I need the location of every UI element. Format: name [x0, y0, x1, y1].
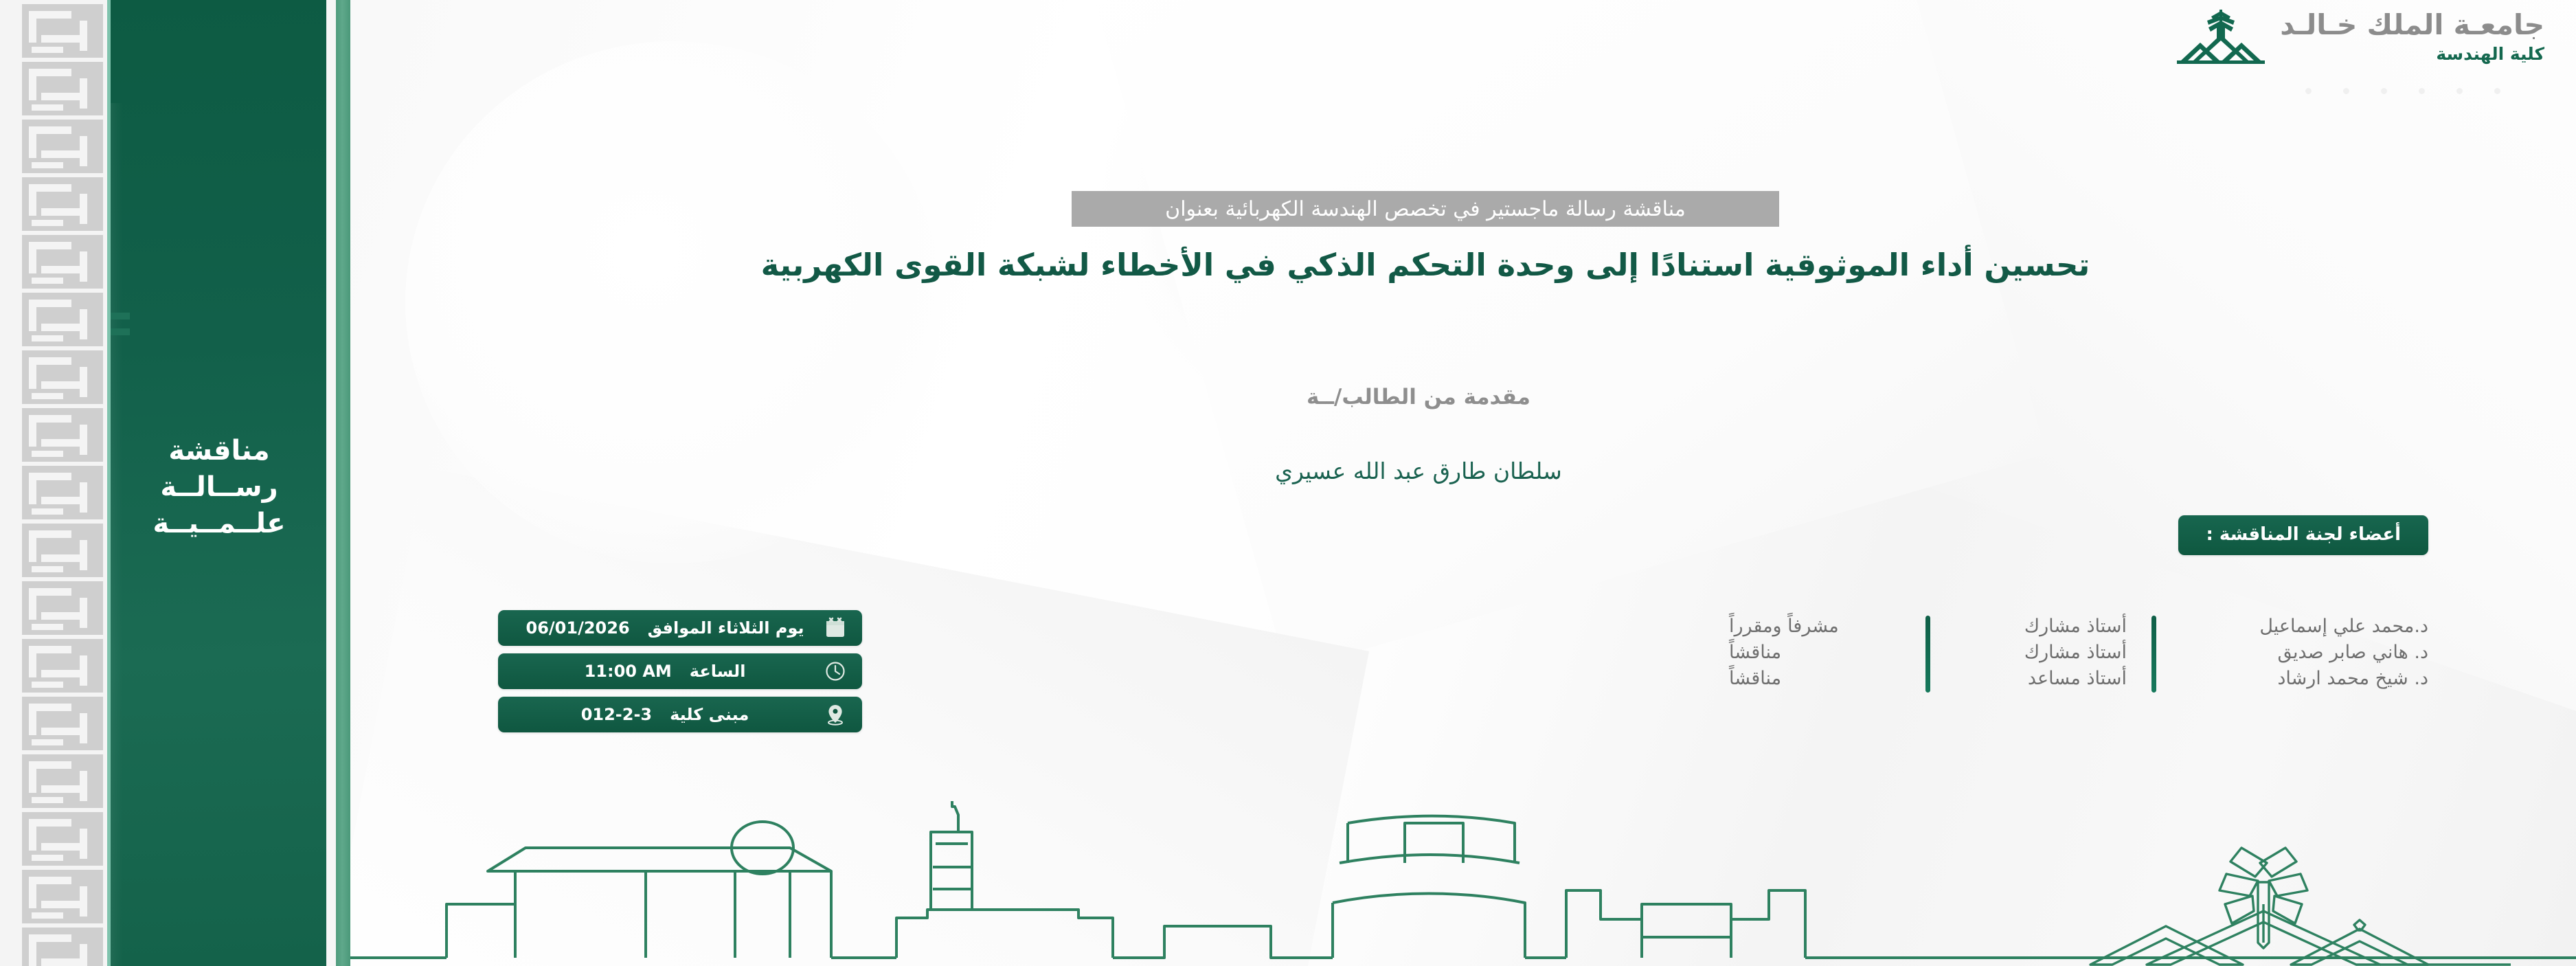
detail-pill-date-body: يوم الثلاثاء الموافق 06/01/2026	[498, 618, 809, 638]
college-name: كلية الهندسة	[2280, 45, 2544, 63]
detail-value: 012-2-3	[581, 705, 652, 724]
sidebar-title-line-1: مناقشة	[121, 433, 317, 469]
committee-member-role: مشرفاً ومقرراً	[1729, 614, 1901, 640]
kufic-pattern-stroke	[41, 381, 84, 389]
detail-value: 06/01/2026	[526, 618, 630, 638]
kufic-pattern-tile	[22, 293, 103, 346]
kufic-pattern-stroke	[32, 393, 63, 399]
committee-member-name: د.محمد علي إسماعيل	[2181, 614, 2428, 640]
sidebar-outer-margin	[0, 0, 18, 966]
kufic-pattern-stroke	[80, 944, 87, 966]
kufic-pattern-stroke	[80, 251, 87, 282]
committee-member-role: مناقشاً	[1729, 666, 1901, 692]
kufic-pattern-tile	[22, 639, 103, 693]
logo-dot-row	[2305, 88, 2500, 94]
kufic-pattern-stroke	[41, 150, 84, 158]
sidebar-notch-upper	[111, 313, 130, 319]
kufic-pattern-tile	[22, 870, 103, 923]
kufic-pattern-stroke	[41, 266, 84, 273]
kufic-pattern-stroke	[80, 21, 87, 51]
kufic-pattern-tile	[22, 812, 103, 866]
kufic-pattern-stroke	[32, 566, 63, 572]
kufic-pattern-stroke	[41, 901, 84, 908]
kufic-pattern-stroke	[41, 843, 84, 851]
kufic-pattern-strip	[18, 0, 107, 966]
kufic-pattern-stroke	[29, 126, 36, 158]
kufic-pattern-stroke	[80, 886, 87, 917]
committee-member-role: مناقشاً	[1729, 640, 1901, 666]
detail-pill-location: مبنى كلية 012-2-3	[498, 697, 862, 732]
kufic-pattern-stroke	[41, 35, 84, 43]
kufic-pattern-tile	[22, 235, 103, 289]
kufic-pattern-tile	[22, 62, 103, 115]
kufic-pattern-stroke	[29, 877, 36, 908]
logo-dot	[2419, 88, 2425, 94]
kufic-pattern-stroke	[32, 508, 63, 515]
committee-table: د.محمد علي إسماعيل د. هاني صابر صديق د. …	[1729, 614, 2428, 693]
committee-member-rank: أستاذ مشارك	[1955, 640, 2127, 666]
logo-dot	[2343, 88, 2349, 94]
detail-label: يوم الثلاثاء الموافق	[648, 618, 804, 638]
committee-member-name: د. شيخ محمد ارشاد	[2181, 666, 2428, 692]
kufic-pattern-stroke	[80, 771, 87, 801]
location-pin-icon	[809, 703, 862, 726]
logo-dot	[2494, 88, 2500, 94]
kufic-pattern-stroke	[32, 47, 63, 53]
kufic-pattern-stroke	[41, 497, 84, 504]
kufic-pattern-tile	[22, 928, 103, 966]
kufic-pattern-stroke	[41, 958, 84, 966]
kufic-pattern-stroke	[29, 357, 36, 389]
committee-names-column: د.محمد علي إسماعيل د. هاني صابر صديق د. …	[2181, 614, 2428, 691]
kufic-pattern-stroke	[29, 646, 36, 677]
logo-dot	[2381, 88, 2387, 94]
sidebar-notch-lower	[111, 328, 130, 335]
kufic-pattern-stroke	[41, 785, 84, 793]
kufic-pattern-stroke	[80, 829, 87, 859]
committee-member-name: د. هاني صابر صديق	[2181, 640, 2428, 666]
committee-ranks-column: أستاذ مشارك أستاذ مشارك أستاذ مساعد	[1955, 614, 2127, 691]
kufic-pattern-stroke	[29, 819, 36, 851]
committee-member-rank: أستاذ مشارك	[1955, 614, 2127, 640]
kufic-pattern-tile	[22, 524, 103, 577]
kufic-pattern-stroke	[29, 934, 36, 966]
kufic-pattern-stroke	[41, 612, 84, 620]
committee-divider-left	[1925, 616, 1930, 693]
detail-pill-date: يوم الثلاثاء الموافق 06/01/2026	[498, 610, 862, 646]
kufic-pattern-tile	[22, 120, 103, 173]
kufic-pattern-tile	[22, 177, 103, 231]
kufic-pattern-stroke	[32, 739, 63, 745]
kufic-pattern-stroke	[29, 415, 36, 447]
kufic-pattern-stroke	[32, 104, 63, 111]
committee-heading-text: أعضاء لجنة المناقشة :	[2206, 524, 2401, 545]
kufic-pattern-stroke	[32, 335, 63, 341]
kku-emblem-outline-icon	[2085, 808, 2511, 966]
kufic-pattern-stroke	[80, 425, 87, 455]
kufic-pattern-stroke	[32, 278, 63, 284]
detail-pill-location-body: مبنى كلية 012-2-3	[498, 705, 809, 724]
calendar-icon	[809, 616, 862, 640]
kufic-pattern-stroke	[80, 194, 87, 224]
kufic-pattern-stroke	[32, 624, 63, 630]
kufic-pattern-tile	[22, 581, 103, 635]
announcement-banner-text: مناقشة رسالة ماجستير في تخصص الهندسة الك…	[1165, 197, 1686, 221]
kufic-pattern-stroke	[80, 540, 87, 570]
student-name: سلطان طارق عبد الله عسيري	[306, 458, 2531, 484]
kufic-pattern-stroke	[32, 162, 63, 168]
kufic-pattern-stroke	[29, 300, 36, 331]
kufic-pattern-stroke	[29, 11, 36, 43]
kufic-pattern-stroke	[80, 598, 87, 628]
committee-heading-badge: أعضاء لجنة المناقشة :	[2178, 515, 2428, 555]
sidebar-vertical-title: مناقشة رســالــة علــمــيــة	[121, 433, 317, 541]
kufic-pattern-stroke	[29, 761, 36, 793]
announcement-banner: مناقشة رسالة ماجستير في تخصص الهندسة الك…	[1072, 191, 1779, 227]
main-content: جامعـة الملك خـالـد كلية الهندسة	[350, 0, 2576, 966]
event-details-list: يوم الثلاثاء الموافق 06/01/2026 الساعة 1…	[498, 610, 862, 732]
logo-dot	[2456, 88, 2463, 94]
kufic-pattern-stroke	[32, 220, 63, 226]
poster-canvas: مناقشة رســالــة علــمــيــة جامعـة المل…	[0, 0, 2576, 966]
university-name: جامعـة الملك خـالـد	[2280, 11, 2544, 39]
kufic-pattern-tile	[22, 466, 103, 519]
kufic-pattern-stroke	[29, 242, 36, 273]
kufic-pattern-stroke	[80, 713, 87, 743]
kufic-pattern-stroke	[80, 367, 87, 397]
kufic-pattern-stroke	[80, 78, 87, 109]
kufic-pattern-stroke	[41, 670, 84, 677]
thesis-title: تحسين أداء الموثوقية استنادًا إلى وحدة ا…	[313, 246, 2538, 284]
sidebar-title-line-2: رســالــة	[121, 469, 317, 506]
kufic-pattern-stroke	[41, 728, 84, 735]
kufic-pattern-stroke	[29, 588, 36, 620]
detail-label: مبنى كلية	[670, 705, 749, 724]
detail-pill-time: الساعة 11:00 AM	[498, 653, 862, 689]
left-sidebar: مناقشة رســالــة علــمــيــة	[0, 0, 350, 966]
kufic-pattern-stroke	[80, 482, 87, 513]
kufic-pattern-stroke	[32, 912, 63, 919]
detail-value: 11:00 AM	[585, 662, 672, 681]
sidebar-title-line-3: علــمــيــة	[121, 506, 317, 542]
kku-emblem-icon	[2177, 7, 2265, 66]
kufic-pattern-stroke	[41, 439, 84, 447]
kufic-pattern-stroke	[32, 451, 63, 457]
kufic-pattern-stroke	[29, 473, 36, 504]
kufic-pattern-tile	[22, 754, 103, 808]
kufic-pattern-stroke	[41, 93, 84, 100]
kufic-pattern-stroke	[29, 184, 36, 216]
kufic-pattern-stroke	[41, 208, 84, 216]
kufic-pattern-stroke	[32, 797, 63, 803]
kufic-pattern-tile	[22, 350, 103, 404]
committee-divider-right	[2151, 616, 2156, 693]
kufic-pattern-stroke	[80, 136, 87, 166]
kufic-pattern-stroke	[29, 69, 36, 100]
kufic-pattern-stroke	[29, 530, 36, 562]
kufic-pattern-stroke	[32, 855, 63, 861]
kufic-pattern-stroke	[41, 554, 84, 562]
kufic-pattern-tile	[22, 4, 103, 58]
kufic-pattern-stroke	[80, 655, 87, 686]
submitted-by-label: مقدمة من الطالب/ــة	[306, 385, 2531, 409]
committee-member-rank: أستاذ مساعد	[1955, 666, 2127, 692]
kufic-pattern-tile	[22, 408, 103, 462]
detail-label: الساعة	[690, 662, 746, 681]
logo-text-block: جامعـة الملك خـالـد كلية الهندسة	[2280, 11, 2544, 63]
kufic-pattern-stroke	[29, 704, 36, 735]
kufic-pattern-tile	[22, 697, 103, 750]
clock-icon	[809, 660, 862, 683]
university-logo: جامعـة الملك خـالـد كلية الهندسة	[2177, 7, 2544, 66]
kufic-pattern-stroke	[41, 324, 84, 331]
detail-pill-time-body: الساعة 11:00 AM	[498, 662, 809, 681]
kufic-pattern-stroke	[80, 309, 87, 339]
kufic-pattern-stroke	[32, 682, 63, 688]
logo-dot	[2305, 88, 2312, 94]
committee-roles-column: مشرفاً ومقرراً مناقشاً مناقشاً	[1729, 614, 1901, 691]
